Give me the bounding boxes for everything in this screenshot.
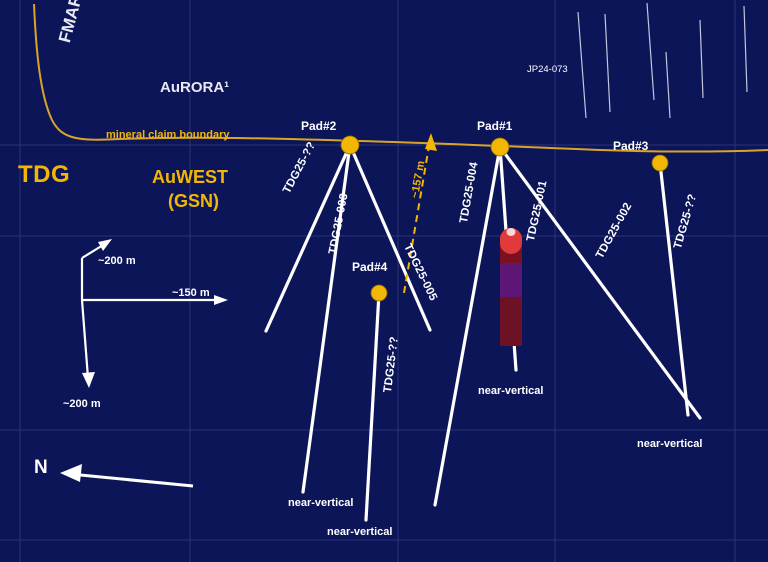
region-label-tdg: TDG bbox=[18, 162, 70, 188]
compass-north-label: N bbox=[34, 458, 48, 479]
near-vertical-note-1: near-vertical bbox=[288, 497, 353, 509]
pad-marker-pad2 bbox=[341, 136, 359, 154]
drillhole-traces bbox=[266, 145, 700, 520]
near-vertical-note-4: near-vertical bbox=[637, 438, 702, 450]
drillhole-plan-map: TDG FMAR AuRORA¹ AuWEST (GSN) mineral cl… bbox=[0, 0, 768, 562]
pad-marker-pad4 bbox=[371, 285, 387, 301]
map-graphics bbox=[0, 0, 768, 562]
pad-label-pad3: Pad#3 bbox=[613, 140, 648, 153]
trace-tdg25-unknown-c bbox=[660, 163, 688, 415]
compass-arrow bbox=[60, 464, 193, 486]
region-label-auwest: AuWEST bbox=[152, 168, 228, 188]
pad-label-pad1: Pad#1 bbox=[477, 120, 512, 133]
pad-label-pad4: Pad#4 bbox=[352, 261, 387, 274]
scale-label-horizontal: ~150 m bbox=[172, 287, 210, 299]
trace-tdg25-002 bbox=[500, 147, 700, 418]
mineral-claim-boundary-label: mineral claim boundary bbox=[106, 129, 229, 141]
pad-label-pad2: Pad#2 bbox=[301, 120, 336, 133]
near-vertical-note-2: near-vertical bbox=[327, 526, 392, 538]
pad-marker-pad3 bbox=[652, 155, 668, 171]
trace-tdg25-unknown-b bbox=[366, 293, 379, 520]
pad-marker-pad1 bbox=[491, 138, 509, 156]
scale-label-vertical-bottom: ~200 m bbox=[63, 398, 101, 410]
background-drill-traces bbox=[578, 3, 747, 118]
region-label-aurora: AuRORA¹ bbox=[160, 80, 229, 97]
region-label-auwest-sub: (GSN) bbox=[168, 192, 219, 212]
scale-label-vertical-top: ~200 m bbox=[98, 255, 136, 267]
background-hole-label-jp24-073: JP24-073 bbox=[527, 65, 568, 75]
near-vertical-note-3: near-vertical bbox=[478, 385, 543, 397]
mineralized-interval-bar bbox=[500, 228, 522, 346]
